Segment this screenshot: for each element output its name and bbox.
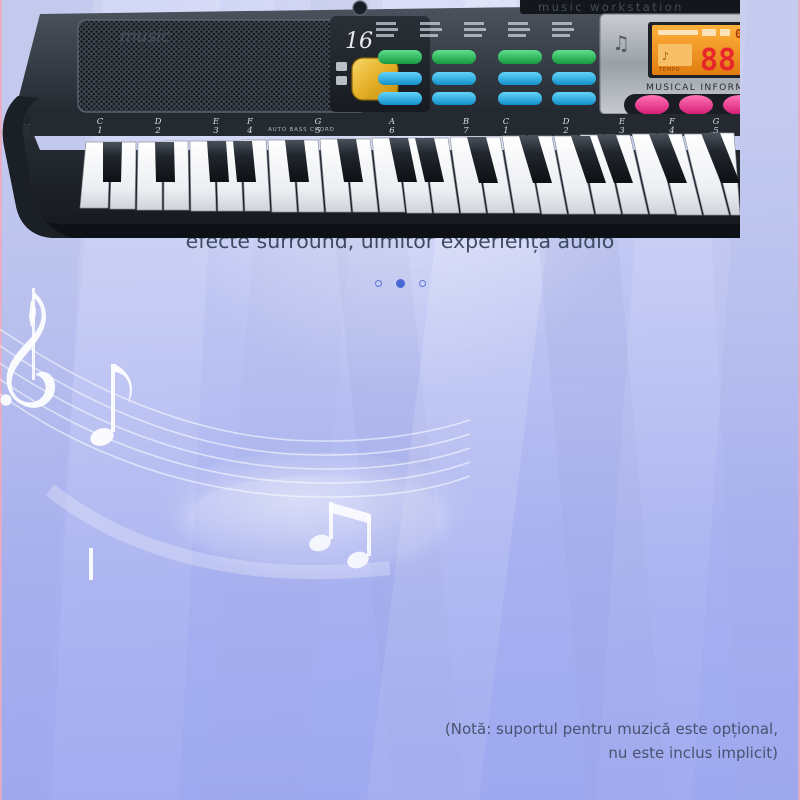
function-button-cyan: [432, 72, 476, 85]
key-legend-number: 6: [389, 126, 395, 136]
stereo-speaker-left: music: [78, 20, 368, 112]
black-key: [103, 142, 122, 182]
piano-keys[interactable]: [80, 133, 740, 215]
voice-count-label: 16: [345, 29, 373, 54]
promo-banner: Boxe stereo duale Două difuzoare stereo …: [0, 0, 800, 800]
key-legend-number: 2: [154, 126, 160, 136]
auto-bass-chord-label: AUTO BASS CHORD: [268, 127, 335, 133]
function-button-cyan: [432, 92, 476, 105]
black-key: [207, 141, 229, 182]
function-button-green: [432, 50, 476, 64]
note-line-2: nu este inclus implicit): [445, 741, 778, 765]
key-legend-strip: C1 D2 E3 F4 G5 A6 B7 C1 D2 E3 F4 G5 AUTO…: [30, 114, 740, 136]
function-button-green: [552, 50, 596, 64]
function-button-pink: [679, 95, 713, 115]
function-button-pink: [635, 95, 669, 115]
workstation-emboss-strip: music workstation: [520, 0, 740, 14]
lcd-display: 06 ♪ TEMPO 88: [648, 22, 740, 78]
key-legend-number: 3: [619, 126, 624, 136]
function-button-cyan: [498, 72, 542, 85]
key-legend-number: 2: [562, 126, 568, 136]
pink-button-row[interactable]: [624, 94, 740, 116]
carousel-dot-2-active[interactable]: [396, 279, 405, 288]
carousel-dot-3[interactable]: [419, 280, 426, 287]
panel-title-text: MUSICAL INFORMATION: [646, 82, 740, 93]
function-button-cyan: [378, 72, 422, 85]
key-legend-number: 7: [463, 126, 469, 136]
carousel-dot-1[interactable]: [375, 280, 382, 287]
brand-mark-text: music: [120, 27, 171, 47]
black-key: [155, 142, 175, 182]
musical-information-panel: ♫ 𝄞 06 ♪ TEMPO 88 MUSICAL INFORMATION: [600, 14, 740, 116]
function-button-green: [378, 50, 422, 64]
function-button-cyan: [378, 92, 422, 105]
note-decor-left-icon: ♫: [612, 31, 630, 55]
lcd-tempo-label: TEMPO: [658, 67, 680, 73]
lcd-small-value: 06: [735, 27, 740, 41]
key-legend-number: 3: [213, 126, 218, 136]
function-button-cyan: [552, 72, 596, 85]
speaker-zoom-lens-highlight: [188, 476, 440, 560]
black-key: [233, 141, 256, 182]
function-button-green: [498, 50, 542, 64]
lcd-main-value: 88: [700, 43, 736, 78]
disclaimer-note: (Notă: suportul pentru muzică este opțio…: [445, 717, 778, 765]
carousel-dots[interactable]: [0, 279, 800, 288]
key-legend-number: 4: [246, 126, 252, 136]
product-name-text: music workstation: [538, 0, 684, 14]
electronic-keyboard: music 16 ♪: [0, 0, 740, 270]
key-legend-number: 1: [503, 126, 508, 136]
lcd-tempo-icon: ♪: [662, 50, 669, 63]
function-button-cyan: [552, 92, 596, 105]
power-jack-icon: [353, 1, 367, 15]
function-button-cyan: [498, 92, 542, 105]
note-line-1: (Notă: suportul pentru muzică este opțio…: [445, 717, 778, 741]
key-legend-number: 1: [97, 126, 102, 136]
